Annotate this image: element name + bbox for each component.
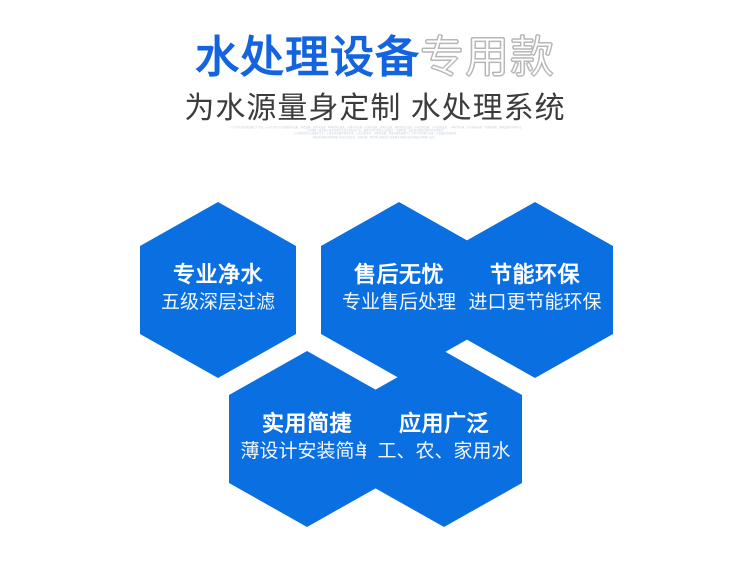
hex-title: 应用广泛 [366, 413, 522, 435]
hex-title: 专业净水 [140, 264, 296, 286]
promo-banner: 水处理设备专用款 为水源量身定制 水处理系统 一个专业的水处理设备生产企业，公司… [0, 0, 750, 588]
hex-subtitle: 五级深层过滤 [140, 293, 296, 312]
feature-hex-practical-simple[interactable]: 实用简捷 薄设计安装简单 [229, 351, 385, 527]
hex-text-wrap: 实用简捷 薄设计安装简单 [229, 413, 385, 461]
hex-text-wrap: 应用广泛 工、农、家用水 [366, 413, 522, 461]
feature-hex-professional-purification[interactable]: 专业净水 五级深层过滤 [140, 202, 296, 378]
hex-text-wrap: 节能环保 进口更节能环保 [457, 264, 613, 312]
hex-text-wrap: 售后无忧 专业售后处理 [321, 264, 477, 312]
hex-subtitle: 薄设计安装简单 [229, 442, 385, 461]
hex-subtitle: 专业售后处理 [321, 293, 477, 312]
feature-hex-wide-application[interactable]: 应用广泛 工、农、家用水 [366, 351, 522, 527]
hex-title: 节能环保 [457, 264, 613, 286]
feature-hex-energy-saving[interactable]: 节能环保 进口更节能环保 [457, 202, 613, 378]
hex-subtitle: 进口更节能环保 [457, 293, 613, 312]
feature-hexagon-grid: 专业净水 五级深层过滤 售后无忧 专业售后处理 节能环保 进口更节能环保 实用简… [0, 0, 750, 588]
feature-hex-after-sales[interactable]: 售后无忧 专业售后处理 [321, 202, 477, 378]
hex-text-wrap: 专业净水 五级深层过滤 [140, 264, 296, 312]
hex-subtitle: 工、农、家用水 [366, 442, 522, 461]
hex-title: 实用简捷 [229, 413, 385, 435]
hex-title: 售后无忧 [321, 264, 477, 286]
